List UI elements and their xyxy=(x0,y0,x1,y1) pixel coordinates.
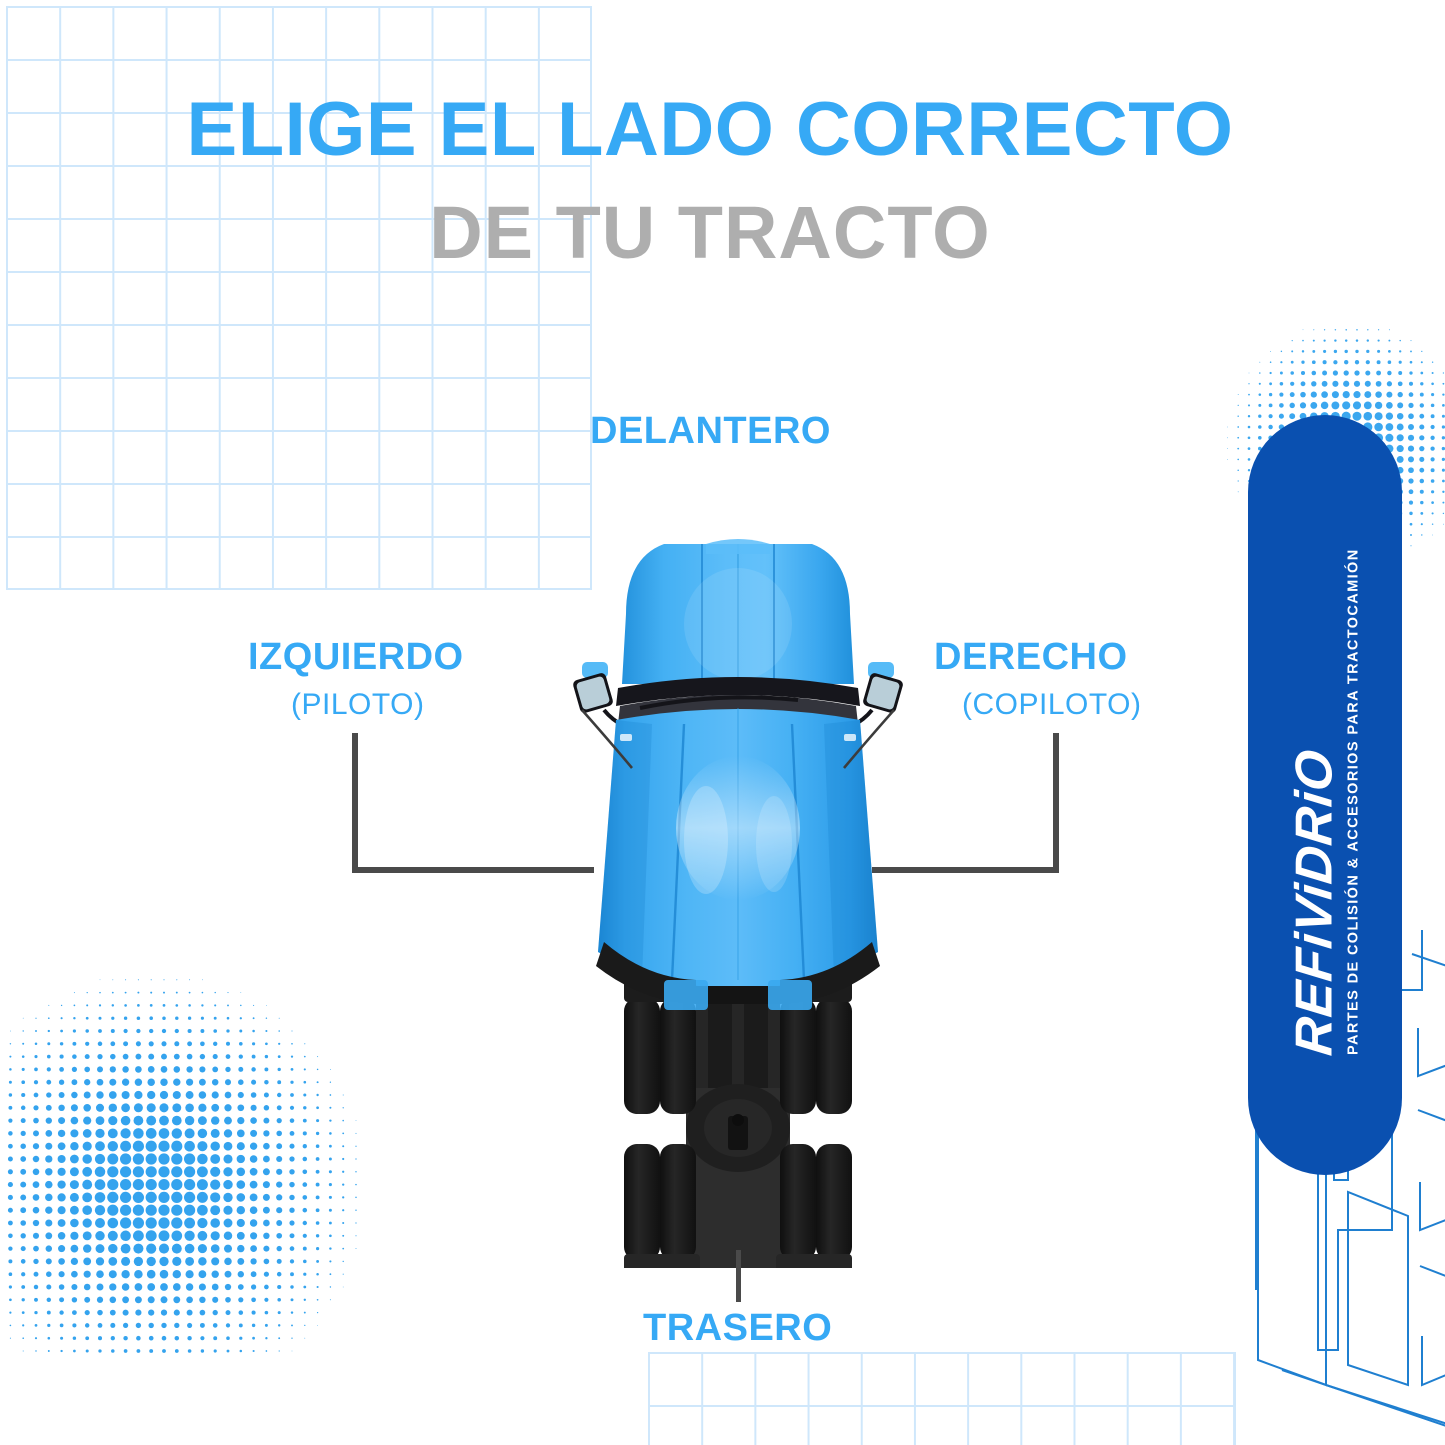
page-title-line-1: ELIGE EL LADO CORRECTO xyxy=(0,92,1420,168)
leader-line-left-horizontal xyxy=(352,867,594,873)
callout-label-left: IZQUIERDO xyxy=(248,636,464,679)
decor-halftone-bottom-left xyxy=(0,935,370,1355)
callout-sublabel-left: (PILOTO) xyxy=(291,688,424,722)
leader-line-left-vertical xyxy=(352,733,358,873)
truck-mirror-left xyxy=(572,662,624,726)
truck-top-view-illustration xyxy=(568,528,908,1268)
truck-mirror-right xyxy=(852,662,904,726)
truck-sleeper-roof xyxy=(622,539,854,684)
callout-label-rear: TRASERO xyxy=(643,1307,832,1350)
callout-label-right: DERECHO xyxy=(934,636,1128,679)
brand-tagline: PARTES DE COLISIÓN & ACCESORIOS PARA TRA… xyxy=(1346,548,1362,1055)
callout-label-front: DELANTERO xyxy=(590,410,831,453)
page-title-line-2: DE TU TRACTO xyxy=(0,196,1420,270)
decor-grid-bottom xyxy=(648,1352,1236,1445)
truck-hood xyxy=(598,708,878,986)
brand-name: REFiViDRiO xyxy=(1289,747,1341,1058)
callout-sublabel-right: (COPILOTO) xyxy=(962,688,1141,722)
infographic-canvas: ELIGE EL LADO CORRECTO DE TU TRACTO xyxy=(0,0,1445,1445)
brand-badge-logo: REFiViDRiO PARTES DE COLISIÓN & ACCESORI… xyxy=(1289,535,1362,1055)
leader-line-right-vertical xyxy=(1053,733,1059,873)
brand-badge: REFiViDRiO PARTES DE COLISIÓN & ACCESORI… xyxy=(1248,415,1402,1175)
